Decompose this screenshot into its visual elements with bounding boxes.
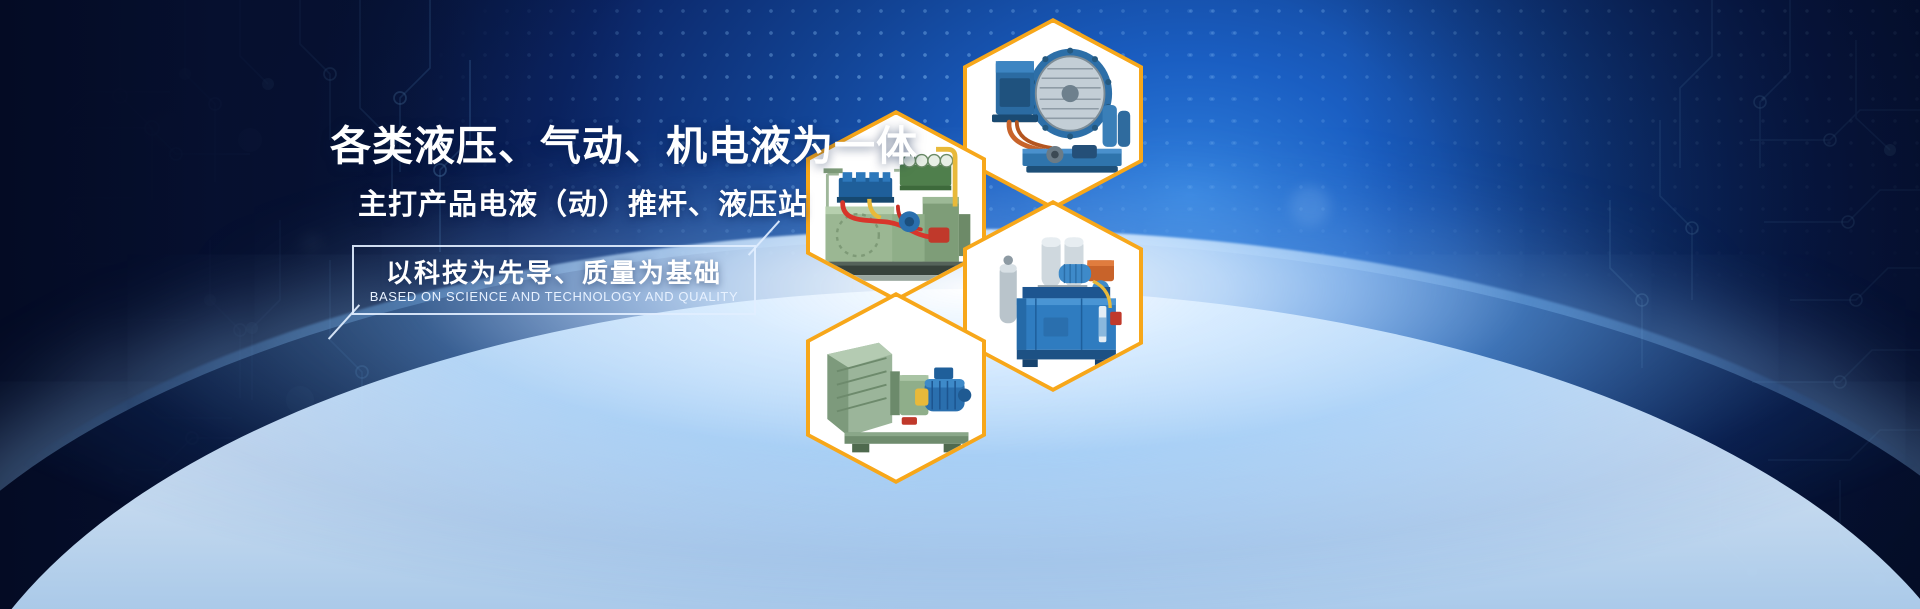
hero-copy-block: 各类液压、气动、机电液为一体 主打产品电液（动）推杆、液压站 以科技为先导、质量… bbox=[330, 124, 800, 315]
slogan-english: BASED ON SCIENCE AND TECHNOLOGY AND QUAL… bbox=[352, 289, 756, 304]
slogan-chinese: 以科技为先导、质量为基础 bbox=[352, 253, 756, 290]
hero-banner: 各类液压、气动、机电液为一体 主打产品电液（动）推杆、液压站 以科技为先导、质量… bbox=[0, 0, 1920, 609]
hero-subheadline: 主打产品电液（动）推杆、液压站 bbox=[330, 181, 800, 223]
hero-headline: 各类液压、气动、机电液为一体 bbox=[330, 124, 800, 169]
slogan-accent-line-right bbox=[748, 220, 780, 256]
slogan-frame: 以科技为先导、质量为基础 BASED ON SCIENCE AND TECHNO… bbox=[352, 245, 756, 315]
